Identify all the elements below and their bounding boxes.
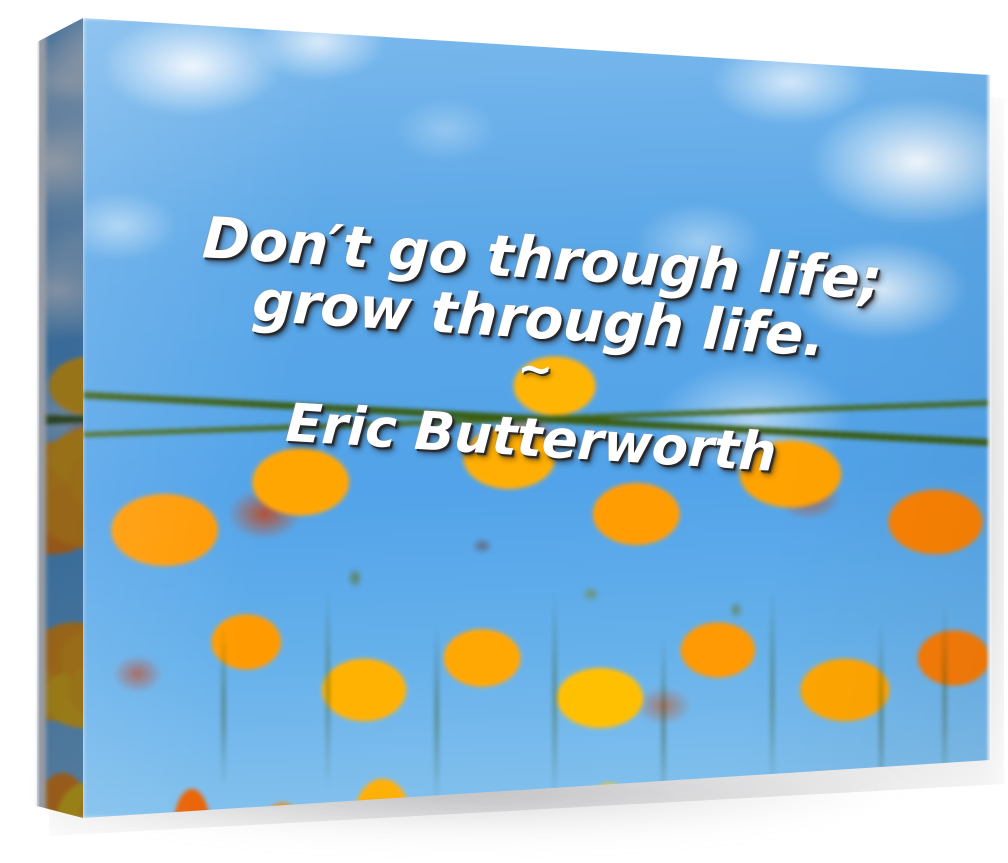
canvas-front-inner — [83, 18, 990, 818]
canvas-object: Don′t go through life; grow through life… — [0, 0, 1008, 863]
canvas-left-edge-highlight — [35, 40, 39, 806]
canvas-print-mockup: Don′t go through life; grow through life… — [0, 0, 1008, 863]
canvas-front-face — [0, 0, 1008, 863]
poppy-field-stems-detail — [83, 18, 990, 818]
canvas-right-edge-highlight — [986, 74, 991, 761]
